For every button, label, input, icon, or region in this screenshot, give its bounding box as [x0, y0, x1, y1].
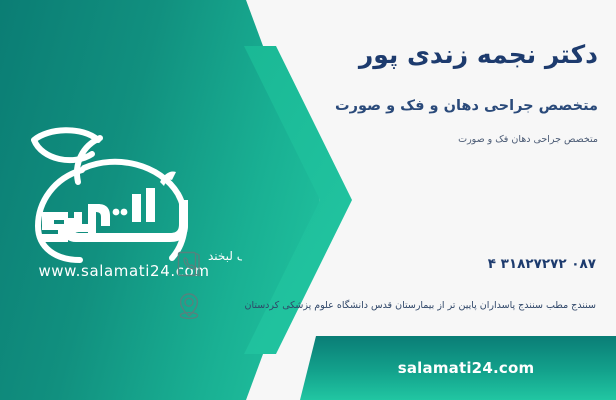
address-text: سنندج مطب سنندج پاسداران پایین تر از بیم…	[206, 299, 602, 314]
footer-url[interactable]: salamati24.com	[316, 336, 616, 400]
business-card: جراحی یک لبخند www.salamati24.com دکتر ن…	[0, 0, 616, 400]
phone-number: ۰۸۷ ۳۱۸۲۷۲۷۲ ۴	[206, 256, 602, 272]
doctor-specialty-small: متخصص جراحی دهان فک و صورت	[178, 134, 598, 145]
doctor-name: دکتر نجمه زندی پور	[178, 40, 598, 69]
phone-book-icon	[172, 246, 206, 282]
address-row: سنندج مطب سنندج پاسداران پایین تر از بیم…	[172, 288, 602, 324]
doctor-specialty: متخصص جراحی دهان و فک و صورت	[178, 98, 598, 114]
phone-row: ۰۸۷ ۳۱۸۲۷۲۷۲ ۴	[172, 246, 602, 282]
location-pin-icon	[172, 288, 206, 324]
